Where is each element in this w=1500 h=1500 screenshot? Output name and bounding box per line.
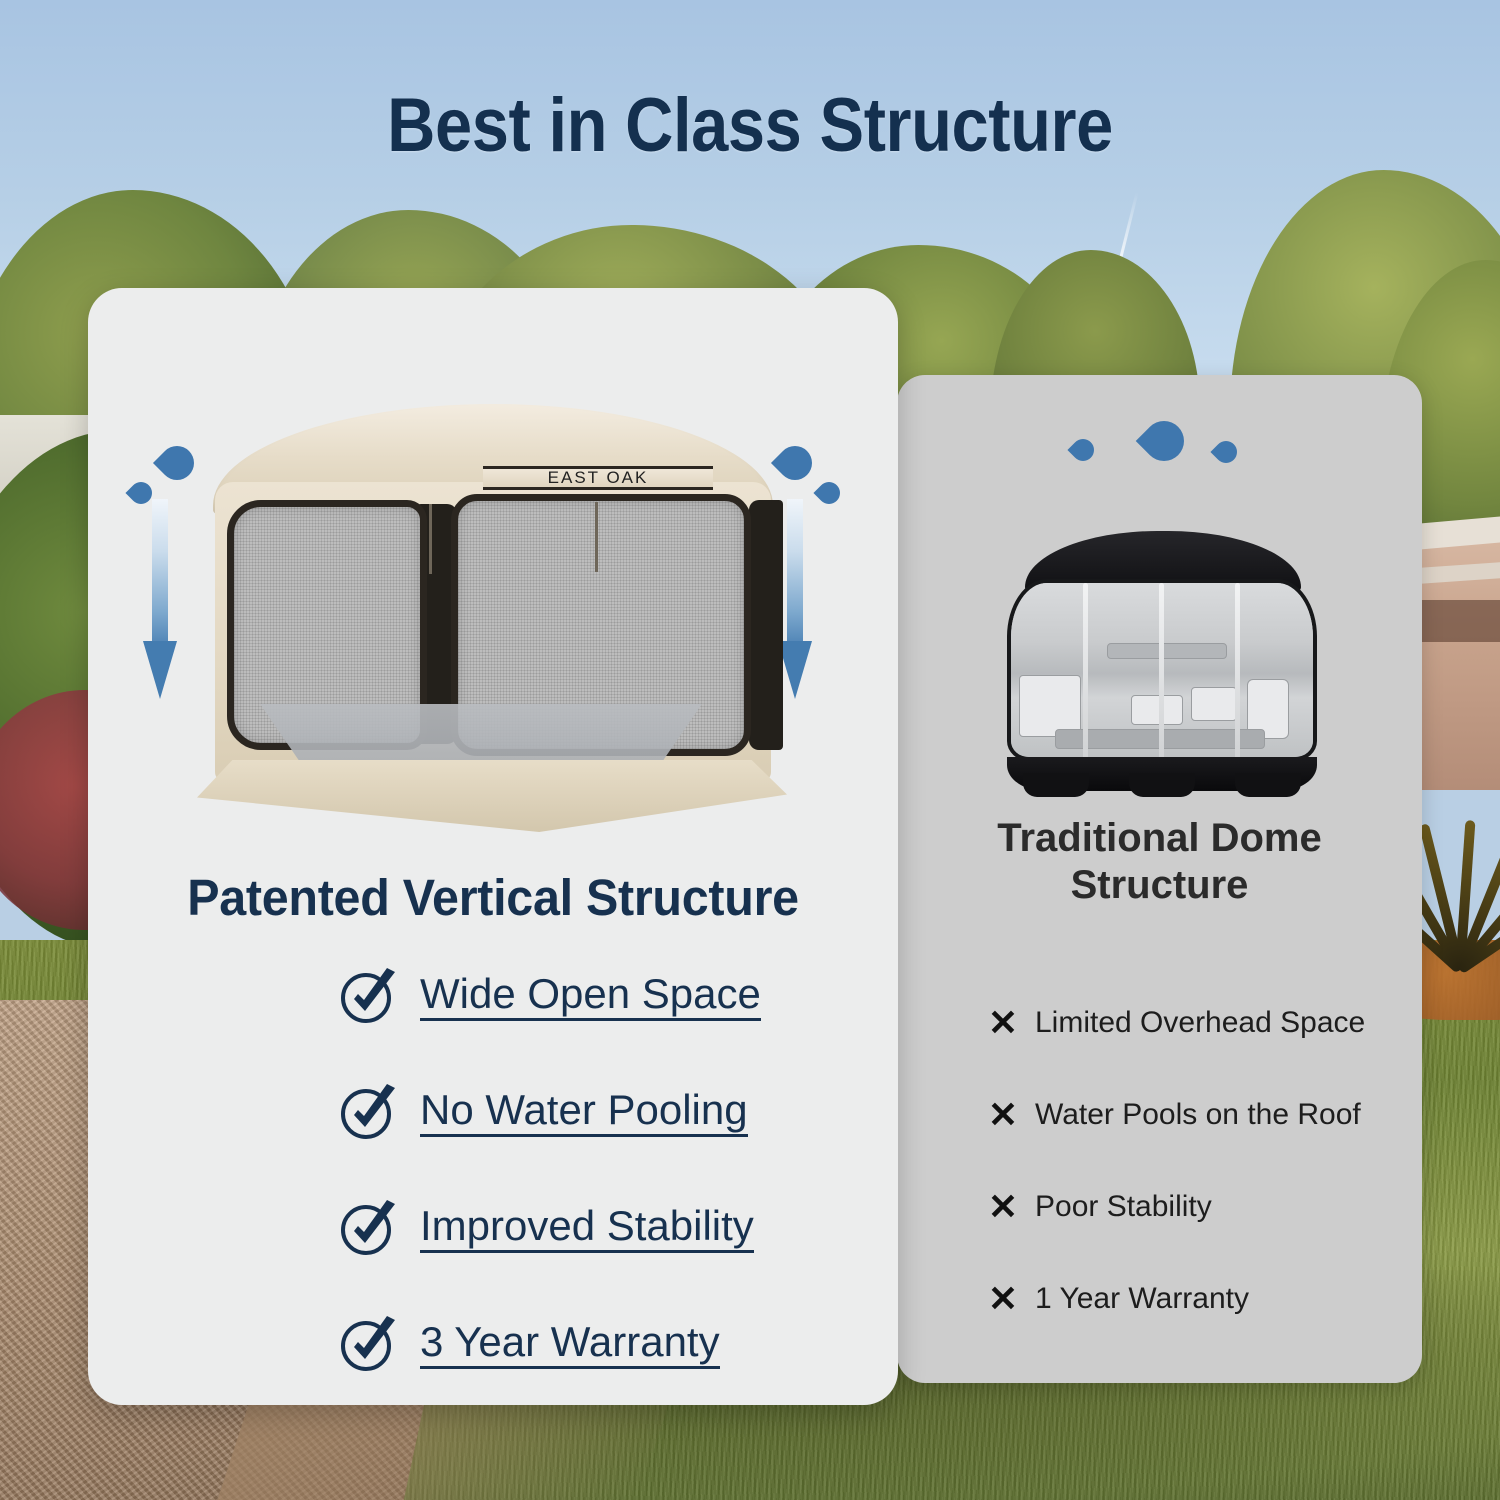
list-item: 3 Year Warranty <box>88 1316 898 1372</box>
list-item: No Water Pooling <box>88 1084 898 1140</box>
dome-foot <box>1129 773 1195 797</box>
product-illustration: EAST OAK <box>88 334 898 854</box>
drawback-label: Water Pools on the Roof <box>1035 1098 1361 1132</box>
dome-foot <box>1023 773 1089 797</box>
gazebo-floor-skirt <box>197 760 787 832</box>
right-card-heading: Traditional Dome Structure <box>897 815 1422 909</box>
dome-zipper <box>1083 583 1088 761</box>
page-title: Best in Class Structure <box>90 82 1410 169</box>
list-item: ✕ Limited Overhead Space <box>897 1005 1422 1041</box>
feature-label: 3 Year Warranty <box>420 1319 720 1369</box>
check-circle-icon <box>340 968 396 1024</box>
x-mark-icon: ✕ <box>985 1097 1021 1133</box>
dome-tent-image <box>1007 531 1317 783</box>
check-circle-icon <box>340 1316 396 1372</box>
feature-label: No Water Pooling <box>420 1087 748 1137</box>
dome-foot <box>1235 773 1301 797</box>
vertical-wall-arrow-icon <box>143 499 177 699</box>
feature-label: Improved Stability <box>420 1203 754 1253</box>
x-mark-icon: ✕ <box>985 1281 1021 1317</box>
list-item: Wide Open Space <box>88 968 898 1024</box>
gazebo-product-image: EAST OAK <box>183 404 803 834</box>
check-circle-icon <box>340 1200 396 1256</box>
list-item: Improved Stability <box>88 1200 898 1256</box>
water-drop-icon <box>1210 436 1241 467</box>
list-item: ✕ Poor Stability <box>897 1189 1422 1225</box>
comparison-card-traditional: Traditional Dome Structure ✕ Limited Ove… <box>897 375 1422 1383</box>
drawback-list: ✕ Limited Overhead Space ✕ Water Pools o… <box>897 1005 1422 1373</box>
dome-illustration <box>897 403 1422 803</box>
water-pooling-curve-icon <box>1015 465 1315 509</box>
dome-zipper <box>1159 583 1164 761</box>
feature-label: Wide Open Space <box>420 971 761 1021</box>
dome-panels <box>1007 579 1317 761</box>
gazebo-zipper-pull <box>429 504 432 574</box>
right-card-heading-line1: Traditional Dome <box>897 815 1422 862</box>
water-drop-icon <box>813 477 844 508</box>
dome-zipper <box>1235 583 1240 761</box>
x-mark-icon: ✕ <box>985 1005 1021 1041</box>
drawback-label: Poor Stability <box>1035 1190 1212 1224</box>
left-card-heading: Patented Vertical Structure <box>108 868 878 927</box>
water-drop-icon <box>1136 413 1193 470</box>
gazebo-corner-post <box>749 500 783 750</box>
x-mark-icon: ✕ <box>985 1189 1021 1225</box>
water-drop-icon <box>1067 434 1098 465</box>
right-card-heading-line2: Structure <box>897 862 1422 909</box>
list-item: ✕ Water Pools on the Roof <box>897 1097 1422 1133</box>
check-circle-icon <box>340 1084 396 1140</box>
feature-list: Wide Open Space No Water Pooling Improve… <box>88 968 898 1432</box>
gazebo-zipper-pull <box>595 502 598 572</box>
comparison-card-patented: EAST OAK Patented Vertical Structure Wid… <box>88 288 898 1405</box>
list-item: ✕ 1 Year Warranty <box>897 1281 1422 1317</box>
drawback-label: 1 Year Warranty <box>1035 1282 1249 1316</box>
drawback-label: Limited Overhead Space <box>1035 1006 1365 1040</box>
brand-label: EAST OAK <box>483 466 713 490</box>
